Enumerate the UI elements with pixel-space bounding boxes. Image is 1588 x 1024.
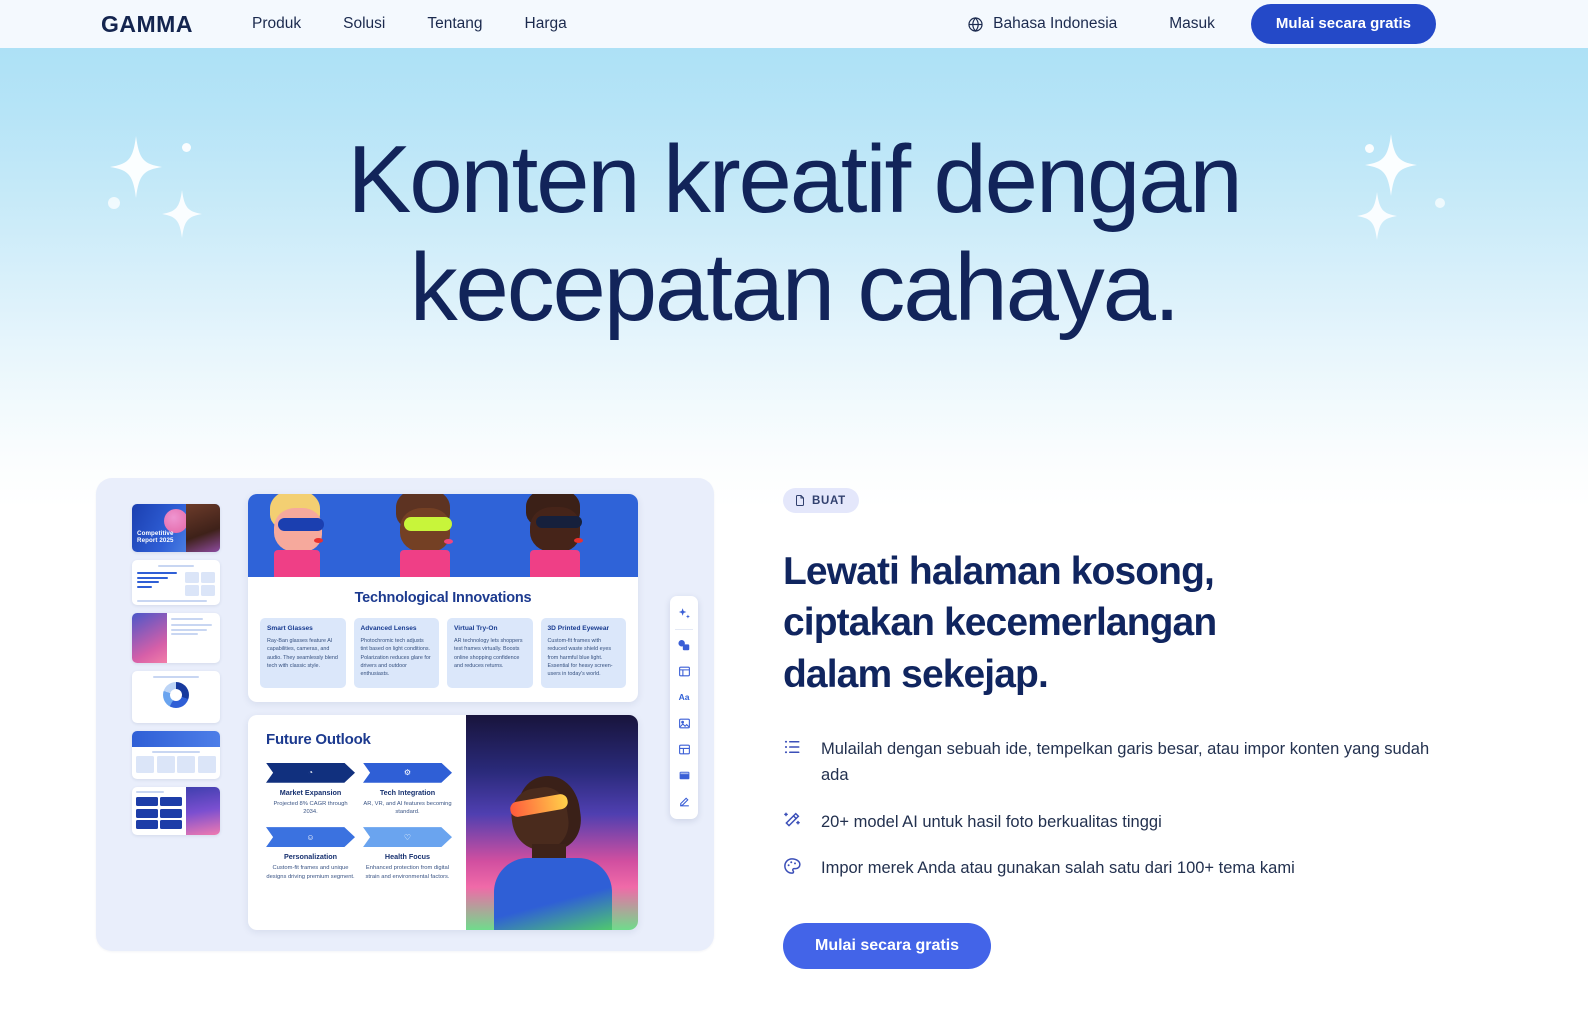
- slide-canvas: Technological Innovations Smart Glasses …: [248, 494, 638, 930]
- gamma-logo[interactable]: GAMMA: [101, 11, 193, 38]
- nav-links: Produk Solusi Tentang Harga: [252, 0, 567, 48]
- feature-text: 20+ model AI untuk hasil foto berkualita…: [821, 809, 1162, 835]
- chevron-body: AR, VR, and AI features becoming standar…: [363, 800, 452, 817]
- slide-thumbnail[interactable]: [132, 787, 220, 835]
- chevron-title: Personalization: [266, 852, 355, 861]
- nav-item-solusi[interactable]: Solusi: [343, 15, 385, 33]
- slide-thumbnail[interactable]: [132, 560, 220, 605]
- status-badge-label: BUAT: [812, 495, 846, 507]
- section-get-started-button[interactable]: Mulai secara gratis: [783, 923, 991, 969]
- slide-thumbnail[interactable]: CompetitiveReport 2025: [132, 504, 220, 552]
- slide-thumbnail-rail[interactable]: CompetitiveReport 2025: [132, 504, 220, 835]
- chevron-item: ♡ Health Focus Enhanced protection from …: [363, 827, 452, 881]
- table-icon[interactable]: [672, 736, 696, 762]
- slide-side-image: [466, 715, 638, 930]
- feature-copy-column: BUAT Lewati halaman kosong, ciptakan kec…: [783, 488, 1483, 969]
- text-icon[interactable]: Aa: [672, 684, 696, 710]
- hero-heading: Konten kreatif dengan kecepatan cahaya.: [347, 126, 1240, 341]
- feature-item: Mulailah dengan sebuah ide, tempelkan ga…: [783, 736, 1483, 788]
- heart-icon: ♡: [363, 827, 452, 847]
- slide-card-body: Photochromic tech adjusts tint based on …: [361, 637, 433, 679]
- hero-section: Konten kreatif dengan kecepatan cahaya.: [0, 48, 1588, 468]
- status-badge: BUAT: [783, 488, 859, 513]
- slide-card-body: Custom-fit frames with reduced waste shi…: [548, 637, 620, 679]
- feature-text: Mulailah dengan sebuah ide, tempelkan ga…: [821, 736, 1436, 788]
- language-selector[interactable]: Bahasa Indonesia: [967, 15, 1117, 33]
- feature-list: Mulailah dengan sebuah ide, tempelkan ga…: [783, 736, 1483, 880]
- chevron-title: Health Focus: [363, 852, 452, 861]
- image-icon[interactable]: [672, 710, 696, 736]
- palette-icon: [783, 855, 802, 880]
- draw-icon[interactable]: [672, 788, 696, 814]
- slide-title: Future Outlook: [266, 731, 452, 748]
- slide-card-title: Virtual Try-On: [454, 625, 526, 633]
- slide-thumbnail[interactable]: [132, 671, 220, 723]
- top-navbar: GAMMA Produk Solusi Tentang Harga Bahasa…: [0, 0, 1588, 48]
- user-icon: ☺: [266, 827, 355, 847]
- section-heading-line-1: Lewati halaman kosong,: [783, 550, 1214, 593]
- ai-sparkle-icon[interactable]: [672, 601, 696, 627]
- slide-card: Smart Glasses Ray-Ban glasses feature AI…: [260, 618, 346, 688]
- feature-section: CompetitiveReport 2025: [0, 468, 1588, 1024]
- slide-thumbnail[interactable]: [132, 613, 220, 663]
- slide-thumbnail[interactable]: [132, 731, 220, 779]
- slide-technological-innovations[interactable]: Technological Innovations Smart Glasses …: [248, 494, 638, 702]
- globe-icon: [967, 16, 984, 33]
- slide-card-title: 3D Printed Eyewear: [548, 625, 620, 633]
- video-icon[interactable]: [672, 762, 696, 788]
- feature-item: 20+ model AI untuk hasil foto berkualita…: [783, 809, 1483, 835]
- slide-card: 3D Printed Eyewear Custom-fit frames wit…: [541, 618, 627, 688]
- landing-page: GAMMA Produk Solusi Tentang Harga Bahasa…: [0, 0, 1588, 1024]
- gear-icon: ⚙: [363, 763, 452, 783]
- slide-future-outlook[interactable]: Future Outlook ◔ Market Expansion Projec…: [248, 715, 638, 930]
- nav-item-produk[interactable]: Produk: [252, 15, 301, 33]
- shapes-icon[interactable]: [672, 632, 696, 658]
- slide-card-body: Ray-Ban glasses feature AI capabilities,…: [267, 637, 339, 671]
- magic-wand-icon: [783, 809, 802, 834]
- feature-text: Impor merek Anda atau gunakan salah satu…: [821, 855, 1295, 881]
- layout-icon[interactable]: [672, 658, 696, 684]
- signin-link[interactable]: Masuk: [1169, 15, 1215, 33]
- nav-item-tentang[interactable]: Tentang: [427, 15, 482, 33]
- navbar-get-started-button[interactable]: Mulai secara gratis: [1251, 4, 1436, 44]
- feature-item: Impor merek Anda atau gunakan salah satu…: [783, 855, 1483, 881]
- slide-card-title: Advanced Lenses: [361, 625, 433, 633]
- editor-toolbar[interactable]: Aa: [670, 596, 698, 819]
- chart-icon: ◔: [266, 763, 355, 783]
- chevron-title: Market Expansion: [266, 788, 355, 797]
- chevron-item: ⚙ Tech Integration AR, VR, and AI featur…: [363, 763, 452, 817]
- product-preview-card: CompetitiveReport 2025: [96, 478, 714, 951]
- section-heading: Lewati halaman kosong, ciptakan kecemerl…: [783, 546, 1483, 700]
- slide-card-title: Smart Glasses: [267, 625, 339, 633]
- hero-heading-line-2: kecepatan cahaya.: [347, 234, 1240, 342]
- nav-item-harga[interactable]: Harga: [525, 15, 567, 33]
- slide-title: Technological Innovations: [260, 590, 626, 606]
- section-heading-line-2: ciptakan kecemerlangan: [783, 601, 1216, 644]
- chevron-grid: ◔ Market Expansion Projected 8% CAGR thr…: [266, 763, 452, 882]
- slide-card: Advanced Lenses Photochromic tech adjust…: [354, 618, 440, 688]
- section-heading-line-3: dalam sekejap.: [783, 653, 1048, 696]
- language-label: Bahasa Indonesia: [993, 15, 1117, 33]
- slide-card: Virtual Try-On AR technology lets shoppe…: [447, 618, 533, 688]
- chevron-title: Tech Integration: [363, 788, 452, 797]
- chevron-body: Projected 8% CAGR through 2034.: [266, 800, 355, 817]
- nav-right-group: Bahasa Indonesia Masuk Mulai secara grat…: [967, 0, 1436, 48]
- slide-card-grid: Smart Glasses Ray-Ban glasses feature AI…: [260, 618, 626, 688]
- slide-card-body: AR technology lets shoppers test frames …: [454, 637, 526, 671]
- chevron-body: Custom-fit frames and unique designs dri…: [266, 864, 355, 881]
- chevron-body: Enhanced protection from digital strain …: [363, 864, 452, 881]
- chevron-item: ◔ Market Expansion Projected 8% CAGR thr…: [266, 763, 355, 817]
- hero-heading-line-1: Konten kreatif dengan: [347, 126, 1240, 233]
- slide-hero-image: [248, 494, 638, 577]
- chevron-item: ☺ Personalization Custom-fit frames and …: [266, 827, 355, 881]
- list-icon: [783, 736, 802, 761]
- document-icon: [794, 494, 806, 507]
